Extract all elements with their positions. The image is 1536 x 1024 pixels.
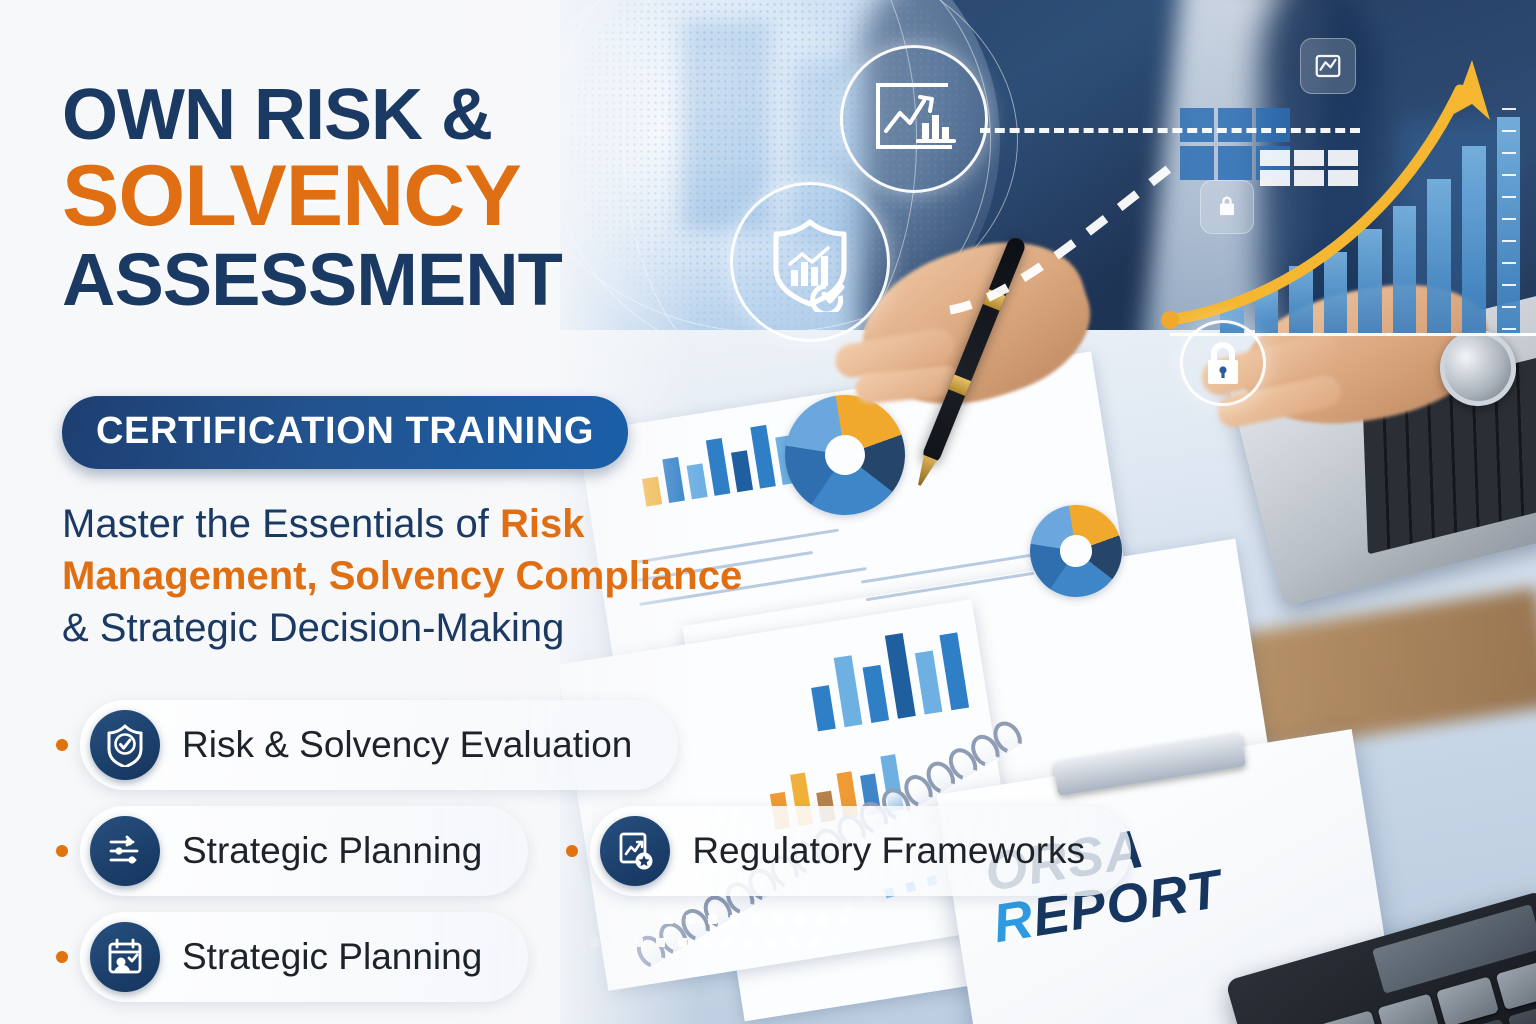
shield-bar-chart-check-icon xyxy=(730,182,890,342)
subheading-part-2: & Strategic Decision-Making xyxy=(62,606,564,650)
hud-dashed-line xyxy=(980,128,1360,133)
feature-row-1: Risk & Solvency Evaluation xyxy=(56,700,1136,790)
subheading: Master the Essentials of Risk Management… xyxy=(62,498,752,654)
feature-label: Strategic Planning xyxy=(182,830,482,872)
feature-label: Risk & Solvency Evaluation xyxy=(182,724,632,766)
feature-list: Risk & Solvency Evaluation Strategic Pla… xyxy=(56,700,1136,1018)
feature-pill-regulatory-frameworks[interactable]: Regulatory Frameworks xyxy=(590,806,1131,896)
feature-pill-risk-solvency-evaluation[interactable]: Risk & Solvency Evaluation xyxy=(80,700,678,790)
feature-label: Strategic Planning xyxy=(182,936,482,978)
sliders-icon xyxy=(90,816,160,886)
headline-line-1: OWN RISK & xyxy=(62,78,722,152)
subheading-part-1: Master the Essentials of xyxy=(62,502,500,546)
bullet-dot xyxy=(56,951,68,963)
bullet-dot xyxy=(566,845,578,857)
hud-connector-dashes xyxy=(940,140,1200,320)
chart-document-star-icon xyxy=(600,816,670,886)
bullet-dot xyxy=(56,845,68,857)
shield-check-icon xyxy=(90,710,160,780)
headline-line-2: SOLVENCY xyxy=(62,152,722,240)
padlock-icon xyxy=(1180,320,1266,406)
feature-row-3: Strategic Planning xyxy=(56,912,1136,1002)
feature-pill-strategic-planning-2[interactable]: Strategic Planning xyxy=(80,912,528,1002)
growth-chart-frame-icon xyxy=(840,45,988,193)
bullet-dot xyxy=(56,739,68,751)
banner-stage: ORSA REPORT xyxy=(0,0,1536,1024)
headline-line-3: ASSESSMENT xyxy=(62,240,722,320)
feature-pill-strategic-planning[interactable]: Strategic Planning xyxy=(80,806,528,896)
certification-badge: CERTIFICATION TRAINING xyxy=(62,396,628,469)
page-title: OWN RISK & SOLVENCY ASSESSMENT xyxy=(62,78,722,320)
feature-row-2: Strategic Planning Regulatory Frameworks xyxy=(56,806,1136,896)
calendar-plan-icon xyxy=(90,922,160,992)
hud-grid-blocks-light xyxy=(1260,150,1358,186)
secure-user-square-icon xyxy=(1200,180,1254,234)
analytics-square-icon xyxy=(1300,38,1356,94)
feature-label: Regulatory Frameworks xyxy=(692,830,1085,872)
